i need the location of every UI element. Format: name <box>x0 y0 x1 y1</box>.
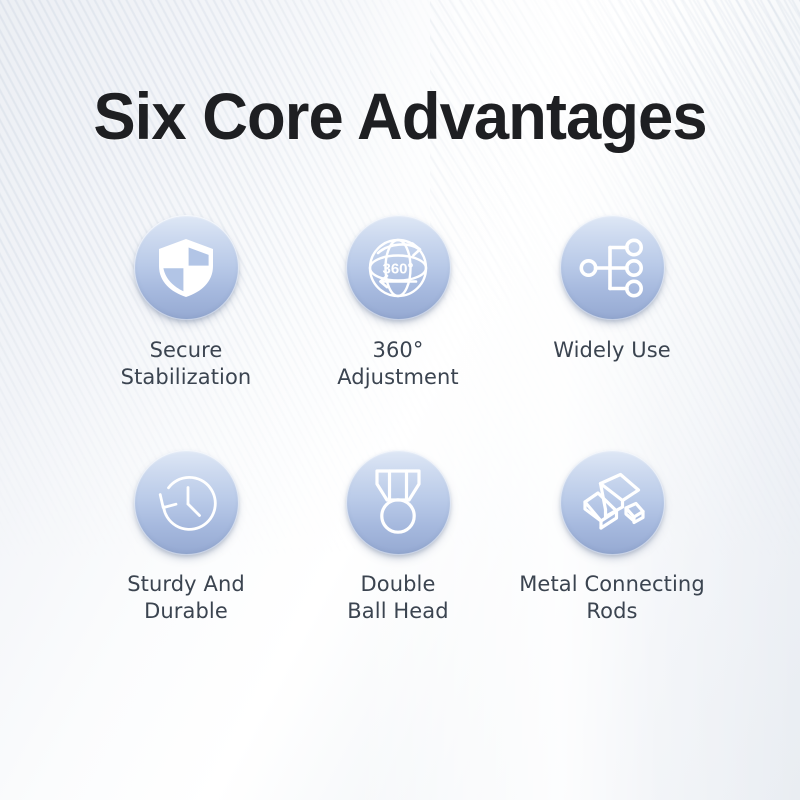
feature-icon-badge <box>560 450 665 555</box>
feature-icon-badge <box>134 215 239 320</box>
feature-item-metal-connecting-rods[interactable]: Metal Connecting Rods <box>506 450 718 626</box>
globe-360-label: 360° <box>382 260 413 277</box>
gold-bars-icon <box>579 471 645 533</box>
feature-label: Double Ball Head <box>347 571 448 626</box>
features-row-bottom: Sturdy And Durable <box>0 450 800 626</box>
globe-360-rotation-icon: 360° <box>365 235 431 301</box>
feature-item-secure-stabilization[interactable]: Secure Stabilization <box>80 215 292 392</box>
feature-icon-badge: 360° <box>346 215 451 320</box>
medal-icon <box>368 468 428 536</box>
feature-icon-badge <box>134 450 239 555</box>
feature-label: 360° Adjustment <box>337 337 459 392</box>
feature-item-widely-use[interactable]: Widely Use <box>506 215 718 392</box>
clock-history-icon <box>154 470 218 534</box>
feature-item-double-ball-head[interactable]: Double Ball Head <box>292 450 504 626</box>
feature-label: Secure Stabilization <box>121 337 252 392</box>
feature-item-sturdy-and-durable[interactable]: Sturdy And Durable <box>80 450 292 626</box>
promo-banner: Six Core Advantages <box>0 0 800 800</box>
features-row-top: Secure Stabilization <box>0 215 800 392</box>
page-title: Six Core Advantages <box>16 78 784 154</box>
network-topology-icon <box>579 239 645 297</box>
feature-icon-badge <box>346 450 451 555</box>
feature-item-360-adjustment[interactable]: 360° 360° Adjustment <box>292 215 504 392</box>
features-grid: Secure Stabilization <box>0 215 800 625</box>
shield-icon <box>156 237 216 299</box>
feature-label: Sturdy And Durable <box>127 571 245 626</box>
feature-label: Metal Connecting Rods <box>519 571 705 626</box>
feature-label: Widely Use <box>553 337 671 364</box>
feature-icon-badge <box>560 215 665 320</box>
